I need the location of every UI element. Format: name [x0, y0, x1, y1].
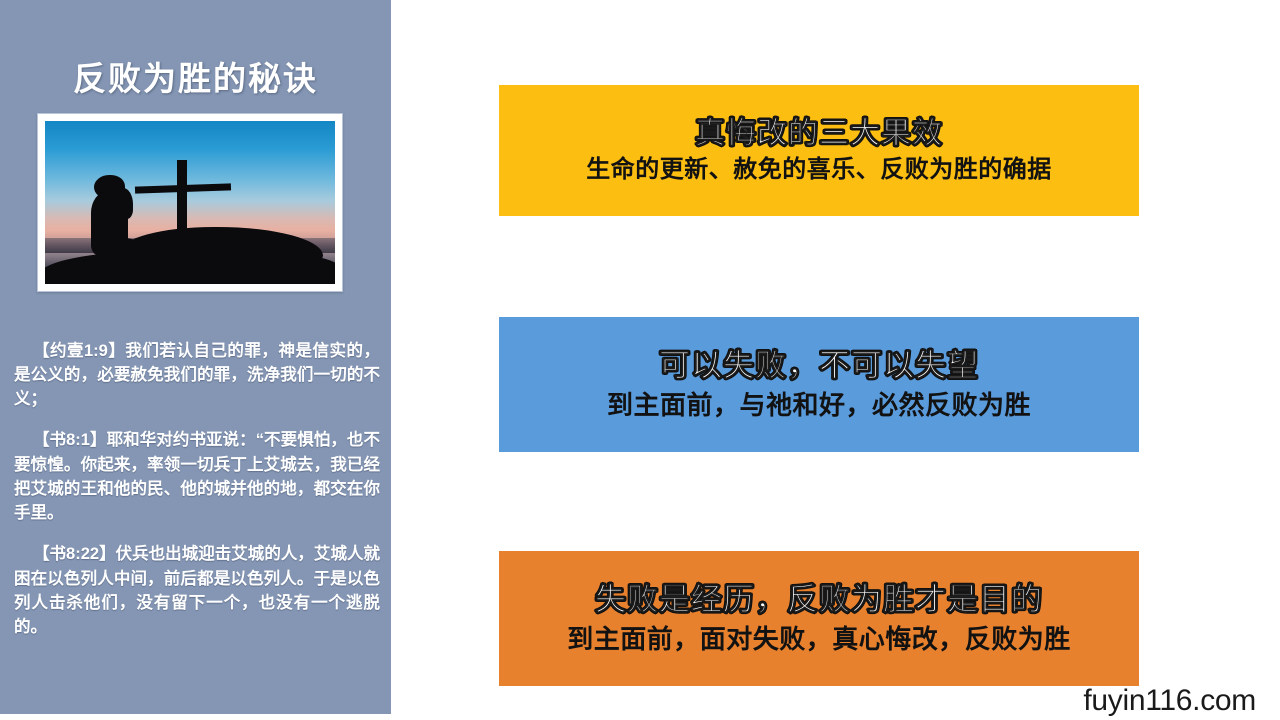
banner-title: 失败是经历，反败为胜才是目的: [595, 582, 1043, 619]
banner-subtitle: 到主面前，与祂和好，必然反败为胜: [607, 390, 1031, 421]
photo-frame: [37, 113, 343, 292]
page-title: 反败为胜的秘诀: [0, 62, 391, 95]
prayer-cross-photo: [45, 121, 335, 284]
site-watermark: fuyin116.com: [1083, 684, 1256, 718]
banner-title: 可以失败，不可以失望: [659, 348, 979, 385]
banner-results: 真悔改的三大果效 生命的更新、赦免的喜乐、反败为胜的确据: [499, 85, 1139, 216]
slide-root: 反败为胜的秘诀 【约壹1:9】我们若认自己的罪，神是信实的，是公义的，必要赦免我…: [0, 0, 1280, 720]
banner-hope: 可以失败，不可以失望 到主面前，与祂和好，必然反败为胜: [499, 317, 1139, 452]
banner-title: 真悔改的三大果效: [695, 116, 943, 151]
scripture-verse: 【书8:1】耶和华对约书亚说：“不要惧怕，也不要惊惶。你起来，率领一切兵丁上艾城…: [14, 428, 380, 525]
banner-purpose: 失败是经历，反败为胜才是目的 到主面前，面对失败，真心悔改，反败为胜: [499, 551, 1139, 686]
sidebar-panel: 反败为胜的秘诀 【约壹1:9】我们若认自己的罪，神是信实的，是公义的，必要赦免我…: [0, 0, 391, 714]
banner-subtitle: 生命的更新、赦免的喜乐、反败为胜的确据: [586, 156, 1052, 185]
scripture-verse: 【书8:22】伏兵也出城迎击艾城的人，艾城人就困在以色列人中间，前后都是以色列人…: [14, 542, 380, 639]
cross-post: [177, 160, 187, 242]
praying-figure-hands: [115, 188, 134, 219]
scripture-list: 【约壹1:9】我们若认自己的罪，神是信实的，是公义的，必要赦免我们的罪，洗净我们…: [14, 322, 380, 639]
scripture-verse: 【约壹1:9】我们若认自己的罪，神是信实的，是公义的，必要赦免我们的罪，洗净我们…: [14, 339, 380, 412]
banner-subtitle: 到主面前，面对失败，真心悔改，反败为胜: [567, 624, 1071, 655]
banner-column: 真悔改的三大果效 生命的更新、赦免的喜乐、反败为胜的确据 可以失败，不可以失望 …: [499, 0, 1139, 720]
ground-silhouette: [45, 251, 335, 284]
